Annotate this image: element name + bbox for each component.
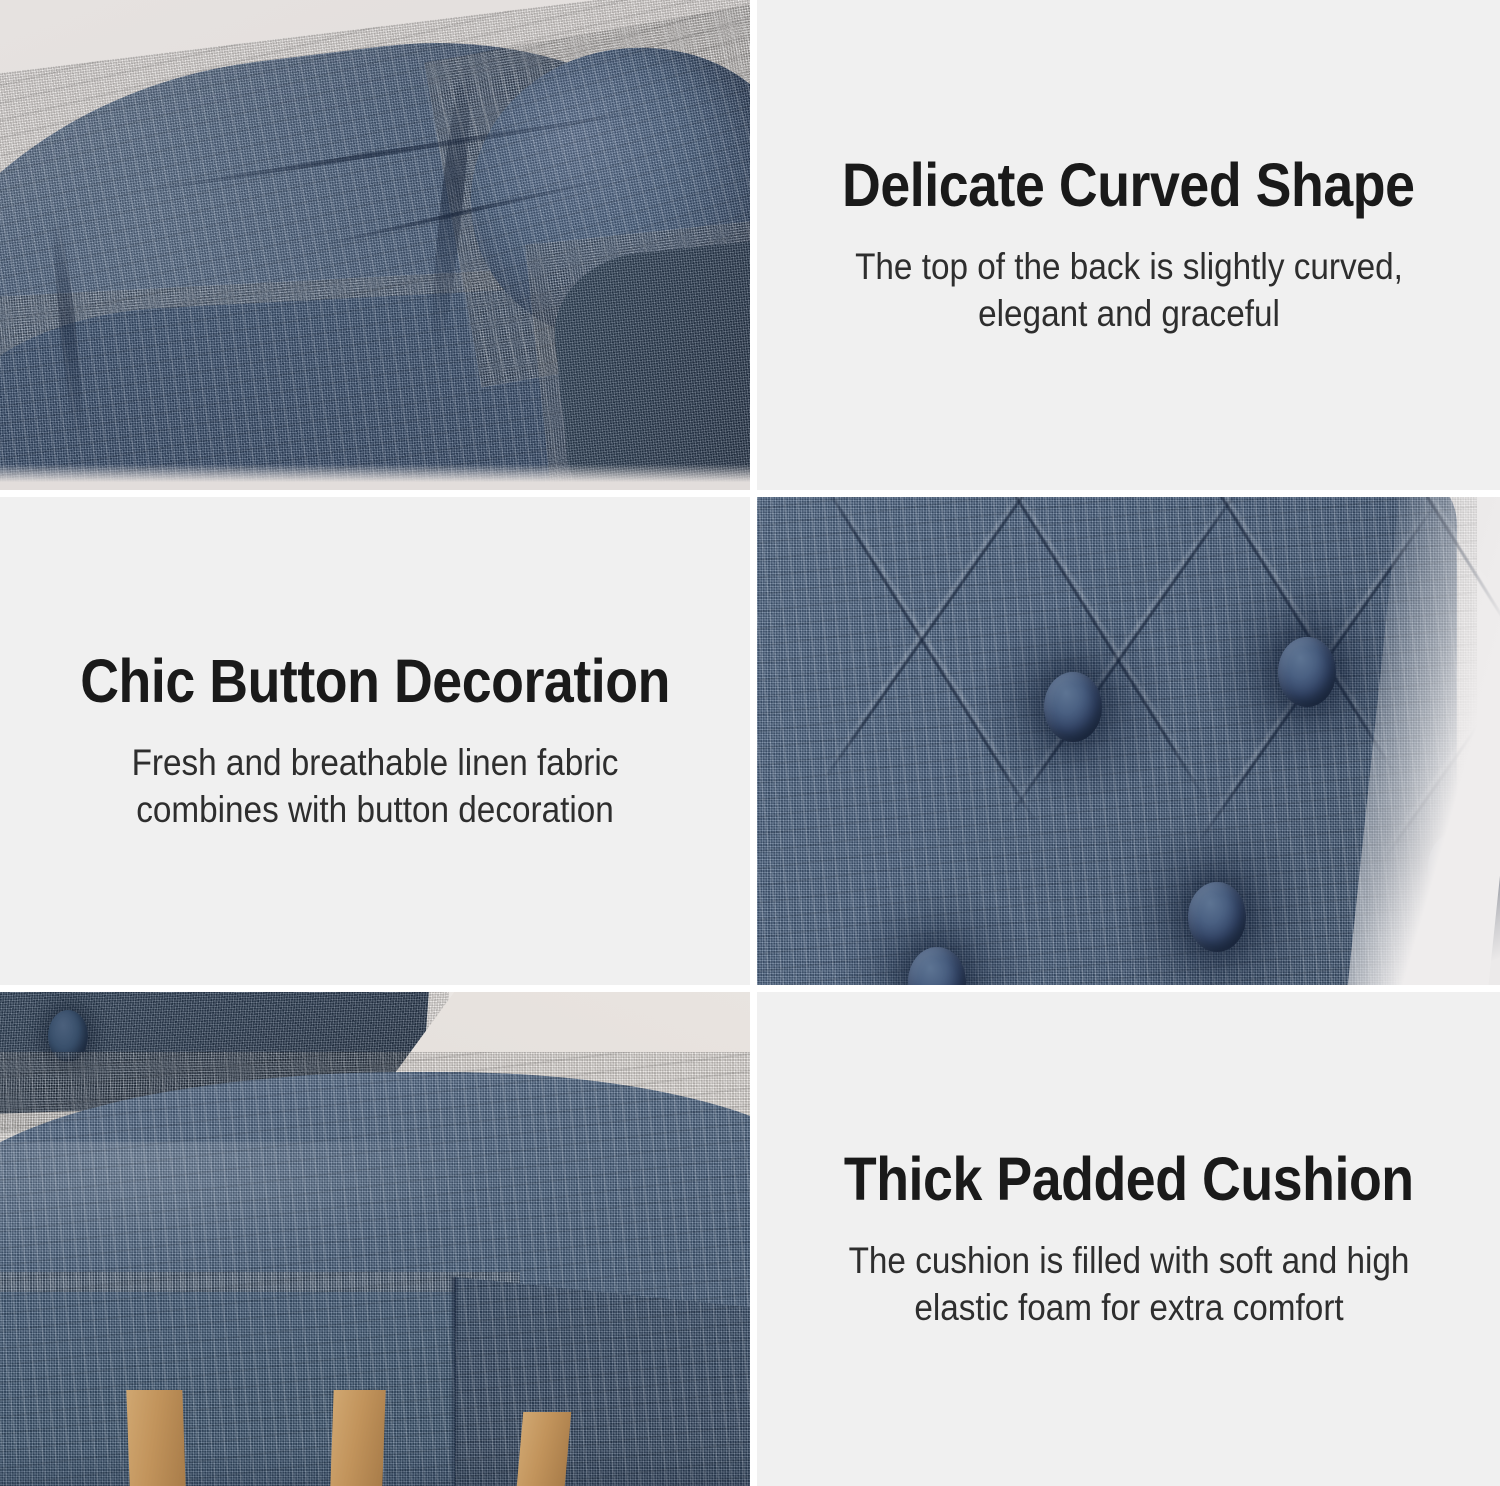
tufting-button: [1278, 637, 1336, 707]
feature-text-chic-button-decoration: Chic Button Decoration Fresh and breatha…: [0, 497, 750, 985]
feature-description-thick-padded-cushion: The cushion is filled with soft and high…: [832, 1237, 1426, 1332]
feature-title-thick-padded-cushion: Thick Padded Cushion: [844, 1147, 1414, 1211]
tufting-button: [1044, 672, 1102, 742]
tufting-button: [1188, 882, 1246, 952]
feature-description-delicate-curved-shape: The top of the back is slightly curved, …: [832, 243, 1426, 338]
feature-image-thick-padded-cushion: [0, 992, 750, 1486]
feature-grid-page: Delicate Curved Shape The top of the bac…: [0, 0, 1500, 1486]
tufted-backrest-fabric: [757, 497, 1457, 985]
feature-image-chic-button-decoration: [757, 497, 1500, 985]
tufting-button: [48, 1010, 88, 1062]
wooden-chair-leg: [330, 1390, 385, 1486]
wooden-chair-leg: [517, 1412, 571, 1486]
feature-text-thick-padded-cushion: Thick Padded Cushion The cushion is fill…: [757, 992, 1500, 1486]
feature-title-delicate-curved-shape: Delicate Curved Shape: [842, 153, 1415, 217]
feature-text-delicate-curved-shape: Delicate Curved Shape The top of the bac…: [757, 0, 1500, 490]
feature-title-chic-button-decoration: Chic Button Decoration: [80, 649, 670, 713]
feature-image-delicate-curved-shape: [0, 0, 750, 490]
wooden-chair-leg: [126, 1390, 185, 1486]
feature-description-chic-button-decoration: Fresh and breathable linen fabric combin…: [78, 739, 672, 834]
